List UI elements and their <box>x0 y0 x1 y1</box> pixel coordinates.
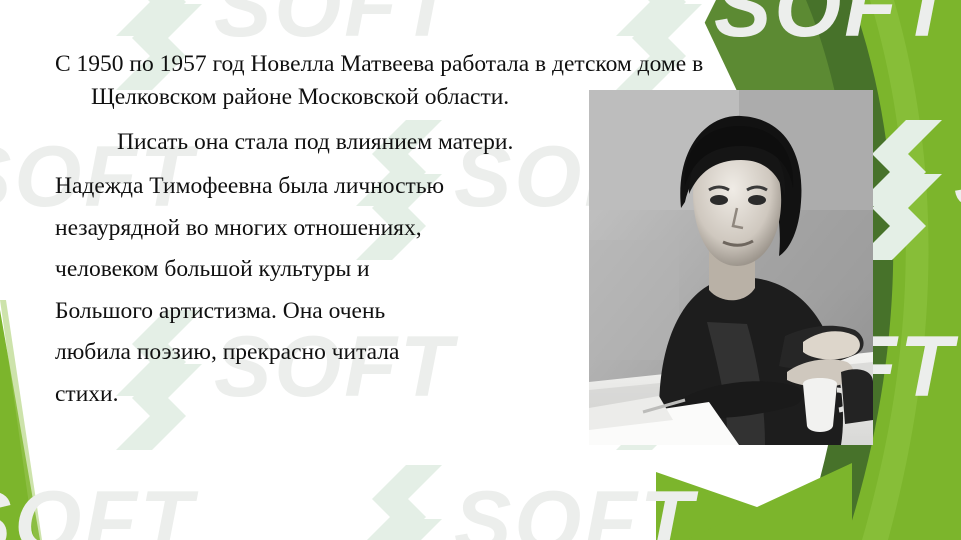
deco-shape-left-wedge <box>0 310 40 540</box>
paragraph-three-line-6: стихи. <box>55 383 855 407</box>
paragraph-three-line-2: незаурядной во многих отношениях, <box>55 217 855 241</box>
watermark-tile <box>0 465 199 540</box>
paragraph-three-line-4: Большого артистизма. Она очень <box>55 300 855 324</box>
deco-shape-bottom-wedge-2 <box>686 463 852 540</box>
paragraph-three-line-5: любила поэзию, прекрасно читала <box>55 341 855 365</box>
paragraph-three: Надежда Тимофеевна была личностью незаур… <box>55 175 855 406</box>
watermark-tile <box>356 465 699 540</box>
paragraph-two: Писать она стала под влиянием матери. <box>55 127 855 158</box>
paragraph-one-line-1: C 1950 по 1957 год Новелла Матвеева рабо… <box>55 51 703 77</box>
slide-body-text: C 1950 по 1957 год Новелла Матвеева рабо… <box>55 48 855 406</box>
deco-shape-bottom-wedge <box>656 472 852 540</box>
slide-canvas: SOFT <box>0 0 961 540</box>
paragraph-one: C 1950 по 1957 год Новелла Матвеева рабо… <box>55 48 855 115</box>
deco-shape-left-wedge-light <box>0 300 42 540</box>
paragraph-three-line-3: человеком большой культуры и <box>55 258 855 282</box>
paragraph-one-line-2: Щелковском районе Московской области. <box>55 81 855 114</box>
paragraph-three-line-1: Надежда Тимофеевна была личностью <box>55 175 855 199</box>
